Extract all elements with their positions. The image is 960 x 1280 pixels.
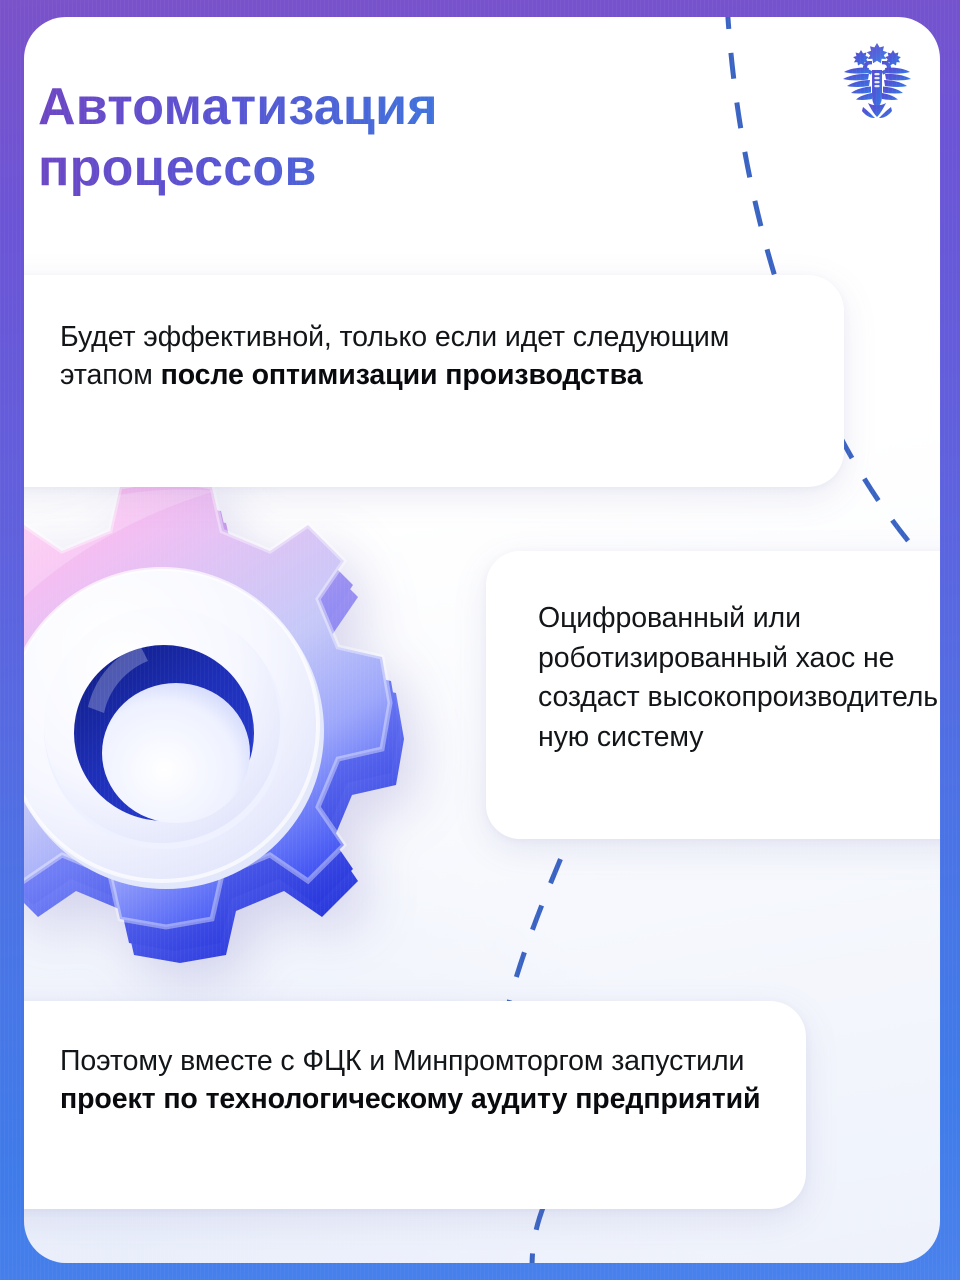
card-optimization: Будет эффективной, только если идет след… [24, 275, 844, 487]
slide-header: Автоматизация процессов [24, 17, 940, 257]
card-chaos: Оцифрованный или роботизированный хаос н… [486, 551, 940, 839]
card-2-run-0: Оцифрованный или роботизированный хаос н… [538, 602, 938, 753]
page-title: Автоматизация процессов [38, 77, 678, 200]
page-title-line-1: Автоматизация [38, 78, 438, 136]
slide-root: Автоматизация процессов [0, 0, 960, 1280]
dashed-curve-bottom [532, 1205, 544, 1263]
card-chaos-text: Оцифрованный или роботизированный хаос н… [538, 599, 940, 757]
card-3-run-1: проект по технологическому аудиту предпр… [60, 1083, 760, 1115]
card-1-run-1: после оптимизации производства [161, 359, 643, 391]
russian-double-headed-eagle-emblem-icon [841, 37, 913, 121]
dashed-curve-middle [504, 813, 580, 1023]
card-audit-project-text: Поэтому вместе с ФЦК и Минпромторгом зап… [60, 1043, 772, 1119]
content-sheet: Автоматизация процессов [24, 17, 940, 1263]
card-3-run-0: Поэтому вместе с ФЦК и Минпромторгом зап… [60, 1045, 744, 1077]
card-optimization-text: Будет эффективной, только если идет след… [60, 319, 760, 395]
page-title-line-2: процессов [38, 139, 317, 197]
card-audit-project: Поэтому вместе с ФЦК и Минпромторгом зап… [24, 1001, 806, 1209]
